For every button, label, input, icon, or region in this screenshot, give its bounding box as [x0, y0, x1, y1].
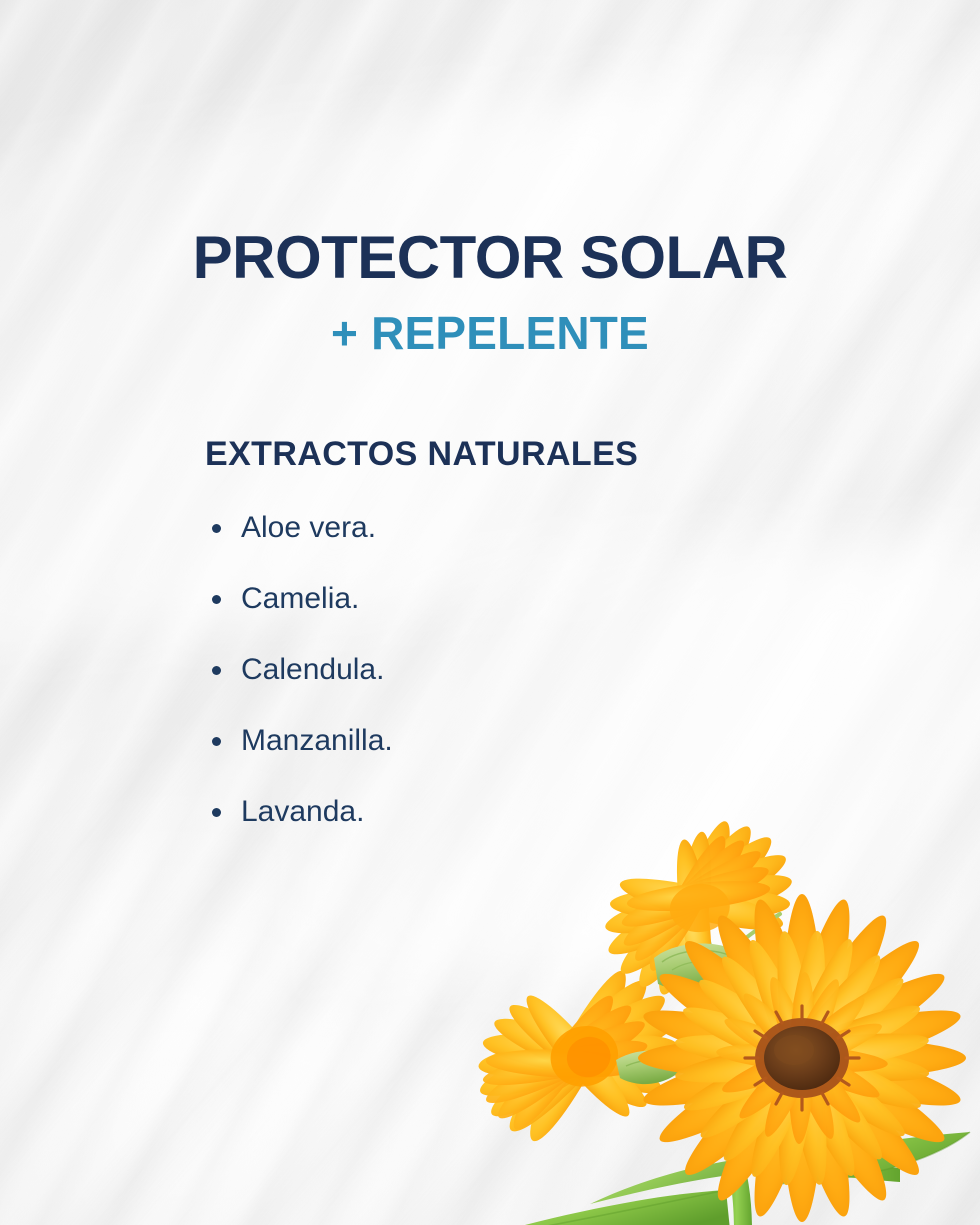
poster-canvas: PROTECTOR SOLAR + REPELENTE EXTRACTOS NA… [0, 0, 980, 1225]
list-item: Calendula. [205, 650, 393, 721]
list-item-label: Calendula. [241, 653, 384, 686]
bullet-icon [212, 808, 221, 817]
bullet-icon [212, 595, 221, 604]
list-item-label: Lavanda. [241, 795, 364, 828]
list-item-label: Camelia. [241, 582, 359, 615]
section-heading: EXTRACTOS NATURALES [205, 437, 638, 471]
bullet-icon [212, 666, 221, 675]
list-item-label: Aloe vera. [241, 511, 376, 544]
list-item: Camelia. [205, 579, 393, 650]
headline-block: PROTECTOR SOLAR + REPELENTE [0, 228, 980, 356]
list-item: Manzanilla. [205, 721, 393, 792]
bullet-icon [212, 524, 221, 533]
natural-extracts-list: Aloe vera. Camelia. Calendula. Manzanill… [205, 508, 393, 863]
list-item: Aloe vera. [205, 508, 393, 579]
list-item: Lavanda. [205, 792, 393, 863]
page-title: PROTECTOR SOLAR [0, 228, 980, 288]
text-content: PROTECTOR SOLAR + REPELENTE EXTRACTOS NA… [0, 0, 980, 1225]
list-item-label: Manzanilla. [241, 724, 393, 757]
bullet-icon [212, 737, 221, 746]
page-subtitle: + REPELENTE [0, 310, 980, 356]
